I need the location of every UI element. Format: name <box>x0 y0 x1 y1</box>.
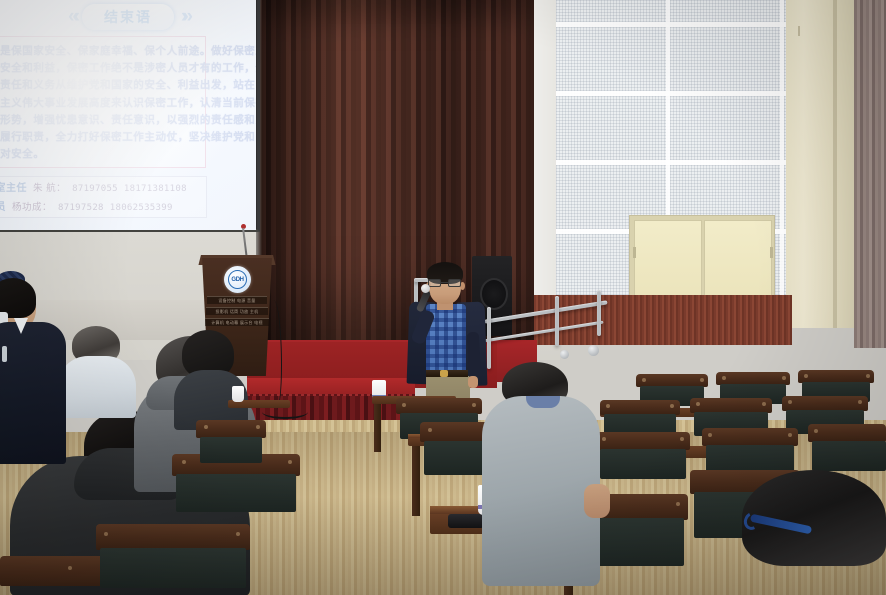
column-seam <box>833 0 837 328</box>
chair-stud <box>402 403 406 407</box>
conference-hall-photo: «‹ 结束语 ›» 就是保国家安全、保家庭幸福、保个人前途。做好保密工 家安全和… <box>0 0 886 595</box>
slide-body-text: 就是保国家安全、保家庭幸福、保个人前途。做好保密工 家安全和利益，保密工作绝不是… <box>0 36 206 168</box>
presenter-hand <box>468 376 478 388</box>
chair-back[interactable] <box>782 396 868 411</box>
handrail-knob <box>588 345 599 356</box>
handrail-post <box>597 290 601 336</box>
chair-seat-pad <box>812 441 886 471</box>
chair-back[interactable] <box>690 398 772 413</box>
chair-stud <box>68 566 72 570</box>
chair-stud <box>696 402 700 406</box>
chair-stud <box>722 376 726 380</box>
chair-seat-pad <box>600 449 686 479</box>
presenter-glasses-icon <box>428 279 462 287</box>
chair-stud <box>788 400 792 404</box>
chair-stud <box>204 425 208 429</box>
handrail-knob <box>560 350 569 359</box>
chair-leg <box>412 446 420 516</box>
slide-title-row: «‹ 结束语 ›» <box>0 2 256 32</box>
chair-back[interactable] <box>702 428 798 446</box>
uniform-woman-blazer <box>0 322 66 464</box>
column-mark <box>798 26 800 36</box>
slide-line: 绝对安全。 <box>0 146 201 163</box>
contact-tel: 87197055 <box>72 184 118 194</box>
slide-line: 会主义伟大事业发展高度来认识保密工作，认清当前保密 <box>0 95 201 112</box>
chair-back[interactable] <box>808 424 886 442</box>
podium-control-plaque[interactable]: 设备控制 电源 音量 <box>207 296 267 304</box>
audience-torso-grey-polo <box>482 396 600 586</box>
slide-line: 真履行职责，全力打好保密工作主动仗，坚决维护党和国 <box>0 129 201 146</box>
chair-stud <box>788 433 792 437</box>
podium-plaque-label: 投影机 话筒 功放 主机 <box>206 308 268 315</box>
chair-stud <box>804 374 808 378</box>
audience-forearm <box>584 484 610 518</box>
glasses-lens-right <box>448 279 461 287</box>
lanyard <box>526 396 560 408</box>
chair-seat-pad <box>100 548 246 588</box>
white-paper-cup <box>232 386 244 402</box>
chair-back[interactable] <box>396 398 482 414</box>
chair-back[interactable] <box>196 420 266 438</box>
chair-stud <box>472 403 476 407</box>
microphone-head-icon <box>421 284 430 293</box>
slide-line: 有责任和义务从维护党和国家的安全、利益出发，站在中 <box>0 77 201 94</box>
contact-tel: 87197528 <box>58 203 104 213</box>
presenter-with-microphone <box>404 252 496 412</box>
slide-contact-block: 公室主任 朱 航： 87197055 18171381108 密员 杨功成： 8… <box>0 176 207 218</box>
chair-stud <box>762 402 766 406</box>
black-smartphone[interactable] <box>448 514 484 528</box>
contact-role: 公室主任 <box>0 179 27 194</box>
chair-back[interactable] <box>600 400 680 415</box>
chair-stud <box>866 374 870 378</box>
glasses-lens-left <box>428 279 441 287</box>
chair-back[interactable] <box>96 524 250 550</box>
chevron-right-icon: ›» <box>181 6 188 28</box>
chair-stud <box>680 437 684 441</box>
slide-line: 就是保国家安全、保家庭幸福、保个人前途。做好保密工 <box>0 43 201 60</box>
chair-leg <box>374 404 381 452</box>
contact-mobile: 18171381108 <box>124 184 187 194</box>
contact-name: 朱 航： <box>33 180 66 194</box>
chevron-left-icon: «‹ <box>68 6 75 28</box>
chair-stud <box>642 378 646 382</box>
chair-stud <box>700 378 704 382</box>
chair-stud <box>676 502 680 506</box>
podium-logo: GDH <box>224 266 251 293</box>
podium-logo-text: GDH <box>228 270 247 289</box>
podium-control-plaque[interactable]: 投影机 话筒 功放 主机 <box>206 307 268 315</box>
presenter-belt-buckle <box>440 370 448 377</box>
audience-torso-white-shirt <box>58 356 136 418</box>
chair-back[interactable] <box>596 432 690 450</box>
slide-line: 家安全和利益，保密工作绝不是涉密人员才有的工作，全 <box>0 60 201 77</box>
chair-seat-pad <box>200 437 262 463</box>
handrail-post <box>555 296 559 346</box>
chair-stud <box>428 428 432 432</box>
chair-stud <box>858 400 862 404</box>
projection-screen: «‹ 结束语 ›» 就是保国家安全、保家庭幸福、保个人前途。做好保密工 家安全和… <box>0 0 256 230</box>
wood-wainscot <box>492 295 792 345</box>
chair-stud <box>104 532 108 536</box>
contact-mobile: 18062535399 <box>110 203 173 213</box>
contact-row: 密员 杨功成： 87197528 18062535399 <box>0 198 204 217</box>
chair-stud <box>708 433 712 437</box>
podium-plaque-label: 设备控制 电源 音量 <box>207 297 267 304</box>
presenter-arm-right <box>467 332 481 381</box>
door-hinge-icon <box>633 247 636 258</box>
chair-stud <box>602 437 606 441</box>
chair-stud <box>236 532 240 536</box>
contact-role: 密员 <box>0 198 6 213</box>
chair-stud <box>606 404 610 408</box>
slide-title: 结束语 <box>82 4 174 30</box>
door-hinge-icon <box>770 247 773 258</box>
right-side-curtain <box>854 0 886 348</box>
chair-stud <box>782 376 786 380</box>
contact-name: 杨功成： <box>12 199 52 213</box>
beige-column <box>786 0 856 328</box>
chair-stud <box>814 429 818 433</box>
chair-stud <box>288 460 292 464</box>
uniform-badge <box>2 346 7 362</box>
uniform-collar <box>14 318 28 334</box>
chair-stud <box>256 425 260 429</box>
chair-seat-pad <box>176 474 296 512</box>
chair-stud <box>670 404 674 408</box>
contact-row: 公室主任 朱 航： 87197055 18171381108 <box>0 179 204 198</box>
slide-line: 峻形势，增强忧患意识、责任意识，以强烈的责任感和紧 <box>0 112 201 129</box>
podium-plaque-label: 计算机 电动幕 展示台 电视 <box>205 319 269 326</box>
glasses-bridge <box>441 282 448 283</box>
chair-stud <box>182 460 186 464</box>
podium-control-plaque[interactable]: 计算机 电动幕 展示台 电视 <box>205 318 269 326</box>
